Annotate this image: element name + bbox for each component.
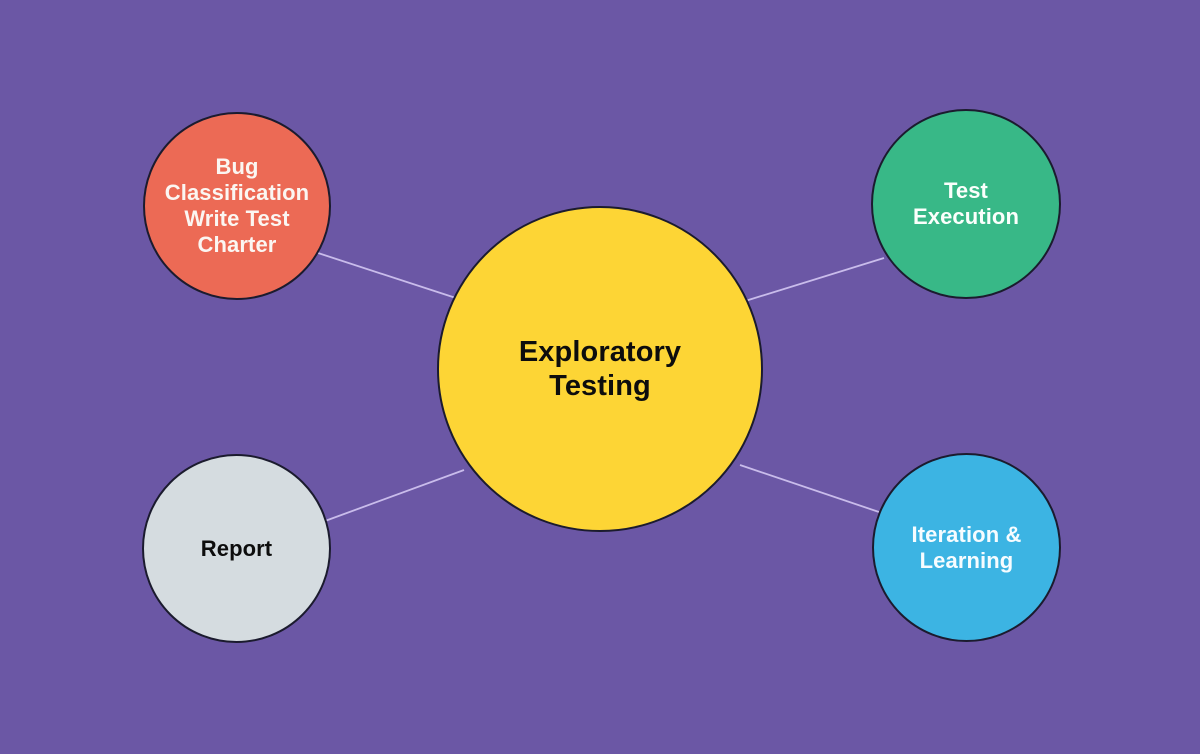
node-test-execution-label: Test Execution: [905, 178, 1027, 230]
node-bug-classification-label: Bug Classification Write Test Charter: [157, 154, 317, 258]
node-report-label: Report: [193, 536, 281, 562]
node-test-execution[interactable]: Test Execution: [871, 109, 1061, 299]
connector-report-to-center: [325, 470, 464, 521]
node-exploratory-testing[interactable]: Exploratory Testing: [437, 206, 763, 532]
connector-test-execution-to-center: [742, 258, 884, 302]
connector-iteration-learning-to-center: [740, 465, 879, 512]
node-bug-classification[interactable]: Bug Classification Write Test Charter: [143, 112, 331, 300]
node-report[interactable]: Report: [142, 454, 331, 643]
node-exploratory-testing-label: Exploratory Testing: [511, 335, 689, 403]
node-iteration-learning-label: Iteration & Learning: [904, 522, 1030, 574]
connector-bug-classification-to-center: [318, 253, 462, 300]
node-iteration-learning[interactable]: Iteration & Learning: [872, 453, 1061, 642]
diagram-canvas: Bug Classification Write Test Charter Te…: [0, 0, 1200, 754]
